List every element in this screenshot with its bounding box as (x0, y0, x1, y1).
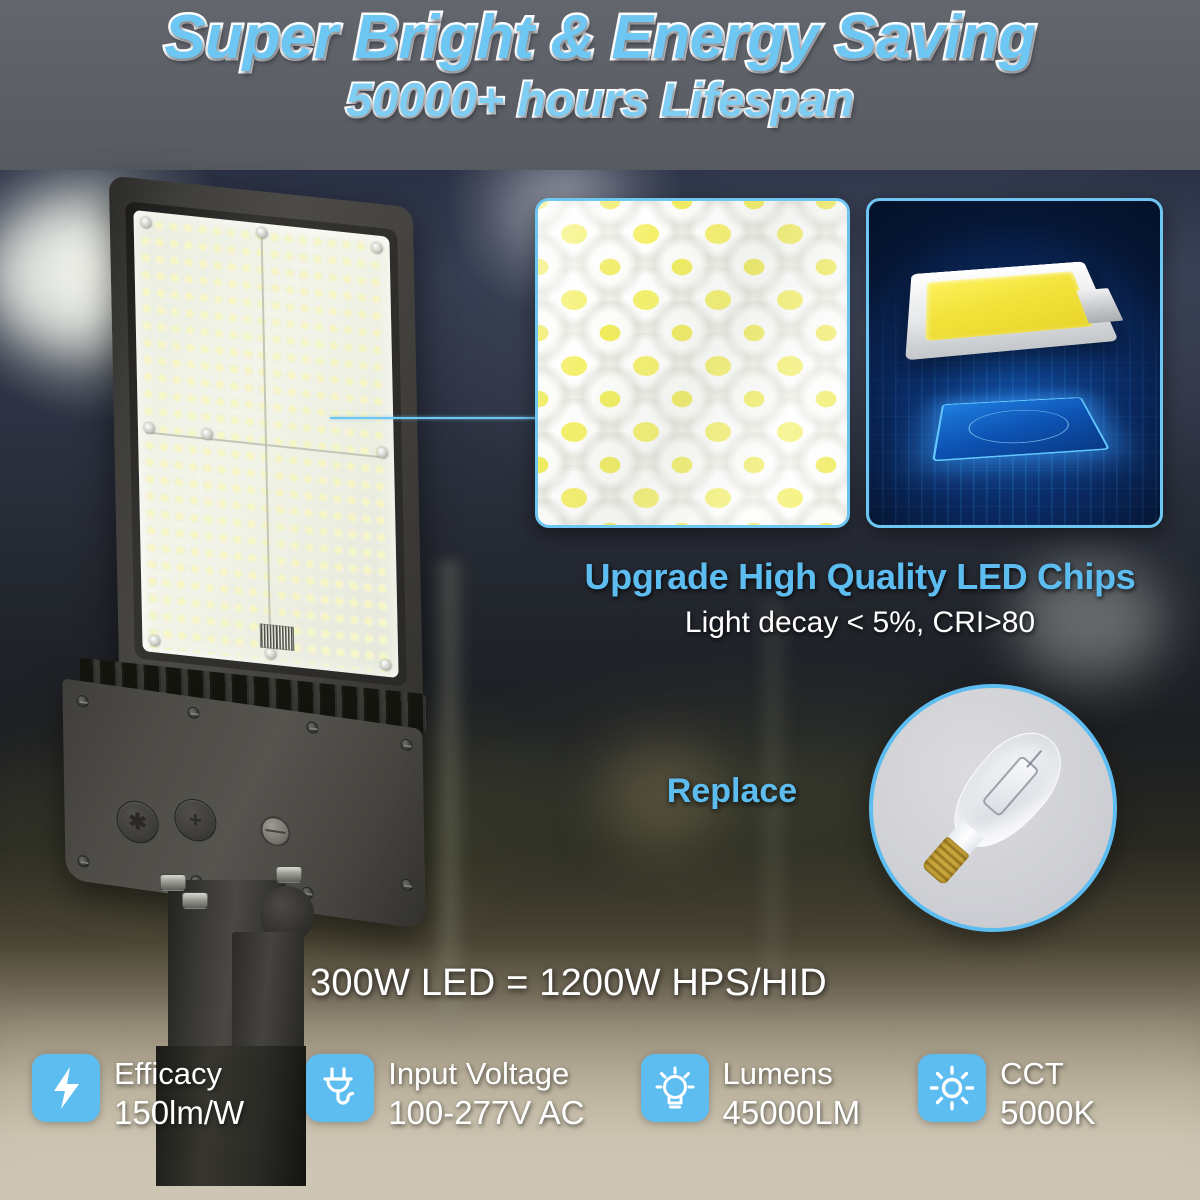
plus-emboss-icon: + (174, 796, 217, 844)
spec-label: CCT (1000, 1056, 1095, 1093)
knockout-plug (260, 814, 291, 848)
headline-text: Super Bright & Energy Saving (0, 6, 1200, 69)
spec-bar: Efficacy 150lm/W Input Voltage 1 (0, 1054, 1200, 1184)
spec-item-input-voltage: Input Voltage 100-277V AC (306, 1054, 584, 1133)
lens-screw (149, 635, 160, 647)
led-fixture-product-photo: ✱ + (18, 180, 448, 970)
spec-label: Lumens (723, 1056, 861, 1093)
spec-value: 45000LM (723, 1093, 861, 1133)
callout-leader-line (330, 417, 540, 419)
light-bulb-icon (641, 1054, 709, 1122)
spec-item-cct: CCT 5000K (918, 1054, 1095, 1133)
lens-screw (141, 217, 152, 229)
housing-screw (400, 738, 412, 752)
housing-screw (306, 721, 318, 735)
asterisk-emboss-icon: ✱ (116, 798, 159, 846)
sun-icon (918, 1054, 986, 1122)
spec-value: 5000K (1000, 1093, 1095, 1133)
spec-value: 150lm/W (114, 1093, 244, 1133)
spec-text-lumens: Lumens 45000LM (723, 1054, 861, 1133)
spec-label: Input Voltage (388, 1056, 584, 1093)
lens-specular-sheen (538, 201, 847, 525)
wattage-comparison-text: 300W LED = 1200W HPS/HID (310, 962, 910, 1005)
lens-screw (380, 659, 391, 671)
housing-screw (401, 878, 413, 892)
spec-text-cct: CCT 5000K (1000, 1054, 1095, 1133)
housing-screw (77, 855, 89, 869)
chip-caption-title: Upgrade High Quality LED Chips (520, 556, 1200, 598)
spec-item-lumens: Lumens 45000LM (641, 1054, 861, 1133)
chip-caption-block: Upgrade High Quality LED Chips Light dec… (520, 556, 1200, 640)
mounting-bolt (182, 892, 208, 909)
spec-label: Efficacy (114, 1056, 244, 1093)
power-plug-icon (306, 1054, 374, 1122)
lens-screw (372, 242, 383, 254)
spec-item-efficacy: Efficacy 150lm/W (32, 1054, 244, 1133)
housing-screw (187, 706, 199, 720)
product-marketing-image: Super Bright & Energy Saving 50000+ hour… (0, 0, 1200, 1200)
lightning-bolt-icon (32, 1054, 100, 1122)
subheadline-text: 50000+ hours Lifespan (0, 75, 1200, 124)
replace-label: Replace (622, 772, 842, 811)
mounting-bolt (276, 866, 302, 883)
fixture-led-panel (133, 210, 398, 678)
led-lens-closeup-panel (535, 198, 850, 528)
headline-block: Super Bright & Energy Saving 50000+ hour… (0, 6, 1200, 125)
chip-caption-subtitle: Light decay < 5%, CRI>80 (520, 606, 1200, 640)
metal-halide-bulb-icon (905, 716, 1079, 900)
spec-text-efficacy: Efficacy 150lm/W (114, 1054, 244, 1133)
spec-value: 100-277V AC (388, 1093, 584, 1133)
mounting-bolt (160, 874, 186, 891)
panel-barcode-label (260, 623, 294, 651)
metal-halide-bulb-circle (869, 684, 1117, 932)
spec-text-input-voltage: Input Voltage 100-277V AC (388, 1054, 584, 1133)
led-chip-pcb-panel (866, 198, 1163, 528)
pcb-circuit-traces (869, 201, 1160, 525)
housing-screw (77, 694, 89, 708)
